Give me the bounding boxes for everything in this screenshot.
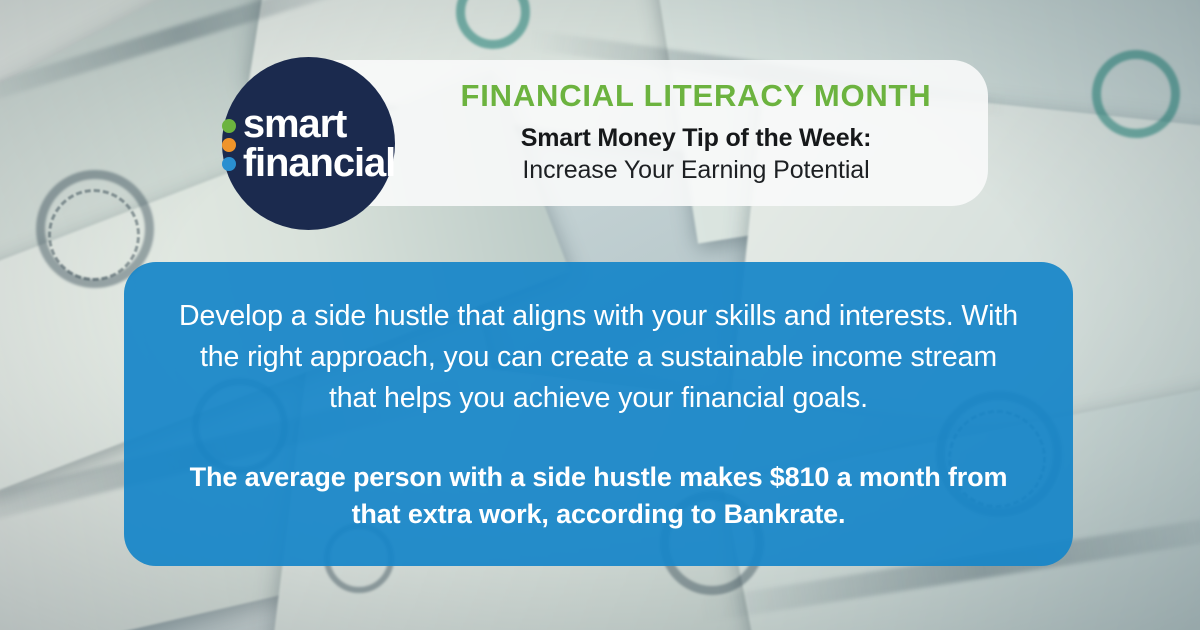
message-body: Develop a side hustle that aligns with y… <box>176 296 1021 419</box>
brand-logo: smart financial <box>222 57 395 230</box>
logo-word-smart: smart <box>243 105 395 143</box>
logo-lockup: smart financial <box>222 105 395 182</box>
logo-word-financial: financial <box>243 144 395 182</box>
message-panel: Develop a side hustle that aligns with y… <box>124 262 1073 566</box>
green-dot-icon <box>222 119 236 133</box>
tip-label: Smart Money Tip of the Week: <box>521 124 871 154</box>
header-text-group: FINANCIAL LITERACY MONTH Smart Money Tip… <box>404 60 988 206</box>
orange-dot-icon <box>222 138 236 152</box>
logo-dots-icon <box>222 117 236 171</box>
logo-wordmark: smart financial <box>243 105 395 182</box>
campaign-kicker: FINANCIAL LITERACY MONTH <box>461 80 932 111</box>
tip-value: Increase Your Earning Potential <box>522 154 869 187</box>
blue-dot-icon <box>222 157 236 171</box>
message-statistic: The average person with a side hustle ma… <box>176 459 1021 531</box>
